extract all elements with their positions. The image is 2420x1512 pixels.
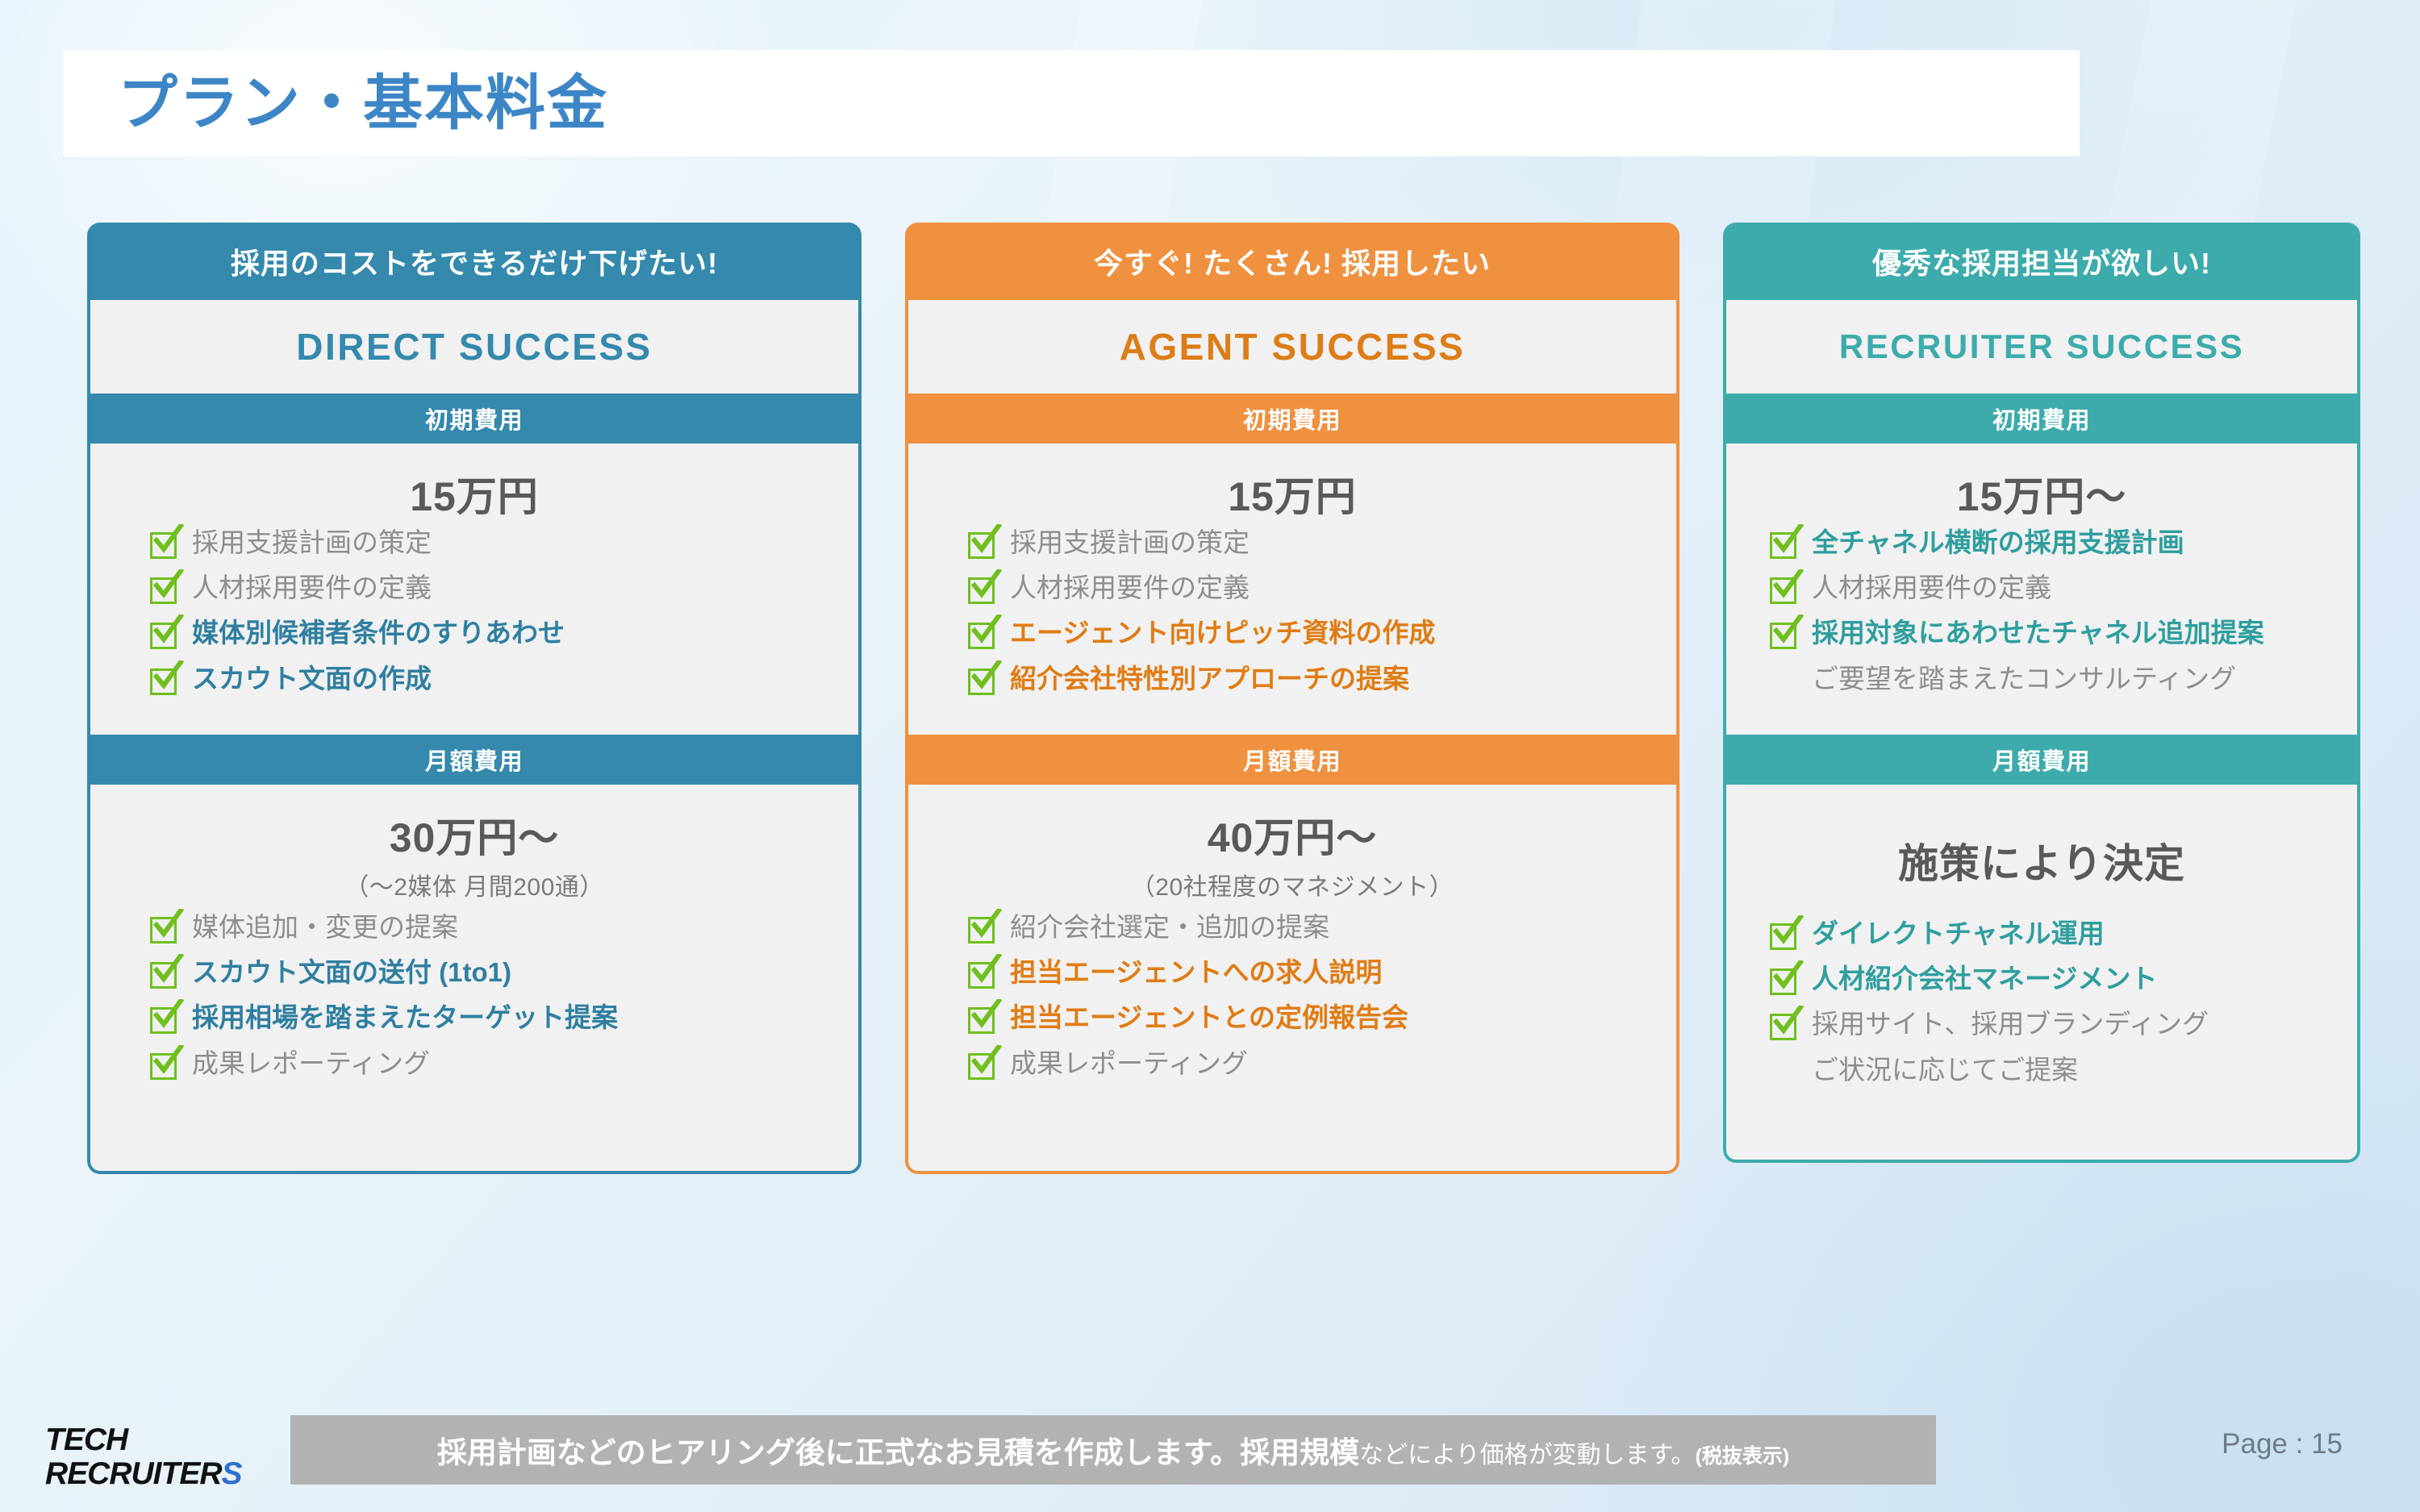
company-logo: TECH RECRUITERS	[45, 1423, 295, 1491]
plan-card-recruiter-success[interactable]: 優秀な採用担当が欲しい! RECRUITER SUCCESS 初期費用 15万円…	[1723, 223, 2360, 1163]
monthly-fee-body: 施策により決定 ダイレクトチャネル運用 人材	[1723, 785, 2360, 1163]
feature-label: 全チャネル横断の採用支援計画	[1812, 526, 2184, 560]
feature-label: 人材紹介会社マネージメント	[1812, 962, 2157, 996]
footer-note-bar: 採用計画などのヒアリング後に正式なお見積を作成します。採用規模などにより価格が変…	[290, 1415, 1936, 1485]
initial-feature-list: 全チャネル横断の採用支援計画 人材採用要件の定義	[1726, 526, 2357, 696]
checkbox-icon	[148, 957, 181, 989]
list-item: 人材採用要件の定義	[1768, 571, 2357, 605]
initial-fee-band: 初期費用	[87, 394, 862, 444]
feature-label: 人材採用要件の定義	[1010, 571, 1250, 605]
feature-label: スカウト文面の作成	[192, 662, 432, 696]
list-item: 成果レポーティング	[966, 1047, 1676, 1081]
monthly-feature-list: 媒体追加・変更の提案 スカウト文面の送付 (1to1)	[90, 910, 858, 1081]
feature-label: 成果レポーティング	[192, 1047, 430, 1081]
checkbox-icon	[148, 527, 181, 560]
monthly-fee-price: 40万円〜	[908, 806, 1676, 864]
initial-fee-body: 15万円 採用支援計画の策定 人材採用要件の	[905, 444, 1679, 735]
footer-note-tax: (税抜表示)	[1696, 1445, 1790, 1468]
plan-tagline: 今すぐ! たくさん! 採用したい	[905, 223, 1679, 300]
feature-label: ご状況に応じてご提案	[1812, 1053, 2078, 1087]
list-item: 担当エージェントへの求人説明	[966, 956, 1676, 989]
feature-label: 人材採用要件の定義	[1812, 571, 2051, 605]
monthly-fee-body: 40万円〜 （20社程度のマネジメント） 紹介会社選定・追加の提案	[905, 785, 1679, 1174]
monthly-fee-price: 施策により決定	[1726, 831, 2357, 889]
feature-label: 紹介会社選定・追加の提案	[1010, 910, 1329, 944]
list-item-note: ご状況に応じてご提案	[1768, 1053, 2357, 1087]
feature-label: 担当エージェントへの求人説明	[1010, 956, 1382, 989]
plan-card-agent-success[interactable]: 今すぐ! たくさん! 採用したい AGENT SUCCESS 初期費用 15万円…	[905, 223, 1679, 1174]
checkbox-icon	[966, 618, 999, 650]
checkbox-icon	[966, 1002, 999, 1035]
checkbox-icon	[1768, 573, 1800, 605]
monthly-fee-band: 月額費用	[905, 735, 1679, 785]
checkbox-icon	[966, 957, 999, 989]
checkbox-icon	[966, 912, 999, 944]
feature-label: 紹介会社特性別アプローチの提案	[1010, 662, 1409, 696]
plan-tagline: 採用のコストをできるだけ下げたい!	[87, 223, 862, 300]
feature-label: 採用対象にあわせたチャネル追加提案	[1812, 616, 2264, 650]
logo-line-1: TECH	[45, 1423, 295, 1457]
feature-label: 採用支援計画の策定	[1010, 526, 1250, 560]
slide-title-bar: プラン・基本料金	[63, 50, 2080, 156]
initial-fee-price: 15万円〜	[1726, 464, 2357, 523]
monthly-fee-band: 月額費用	[1723, 735, 2360, 785]
monthly-feature-list: ダイレクトチャネル運用 人材紹介会社マネージメント	[1726, 917, 2357, 1087]
checkbox-icon	[148, 618, 181, 650]
footer-note-thin: などにより価格が変動します。	[1359, 1442, 1695, 1468]
plan-name: DIRECT SUCCESS	[296, 325, 652, 369]
list-item: スカウト文面の送付 (1to1)	[148, 956, 858, 989]
footer-note: 採用計画などのヒアリング後に正式なお見積を作成します。採用規模などにより価格が変…	[437, 1428, 1789, 1472]
plan-card-group: 採用のコストをできるだけ下げたい! DIRECT SUCCESS 初期費用 15…	[0, 223, 2420, 1400]
list-item: 採用支援計画の策定	[966, 526, 1676, 560]
list-item: 担当エージェントとの定例報告会	[966, 1001, 1676, 1035]
feature-label: ご要望を踏まえたコンサルティング	[1812, 662, 2236, 696]
list-item: スカウト文面の作成	[148, 662, 858, 696]
monthly-fee-body: 30万円〜 （〜2媒体 月間200通） 媒体追加・変更の提案	[87, 785, 862, 1174]
page-number: Page : 15	[2222, 1428, 2343, 1460]
feature-label: 人材採用要件の定義	[192, 571, 432, 605]
feature-label: 採用サイト、採用ブランディング	[1812, 1007, 2209, 1041]
initial-fee-body: 15万円 採用支援計画の策定 人材採用要件の	[87, 444, 862, 735]
checkbox-icon	[1768, 964, 1800, 996]
feature-label: エージェント向けピッチ資料の作成	[1010, 616, 1435, 650]
list-item: 紹介会社特性別アプローチの提案	[966, 662, 1676, 696]
monthly-fee-band: 月額費用	[87, 735, 862, 785]
monthly-fee-subnote: （〜2媒体 月間200通）	[90, 867, 858, 902]
initial-fee-band: 初期費用	[1723, 394, 2360, 444]
list-item: 採用対象にあわせたチャネル追加提案	[1768, 616, 2357, 650]
checkbox-icon	[1768, 1009, 1800, 1041]
logo-line-2-main: RECRUITER	[45, 1456, 222, 1491]
plan-name-box: AGENT SUCCESS	[905, 300, 1679, 394]
feature-label: 担当エージェントとの定例報告会	[1010, 1001, 1408, 1035]
list-item: 成果レポーティング	[148, 1047, 858, 1081]
list-item: 人材採用要件の定義	[148, 571, 858, 605]
initial-fee-price: 15万円	[908, 464, 1676, 523]
logo-line-2-accent: S	[222, 1456, 242, 1491]
list-item: 媒体別候補者条件のすりあわせ	[148, 616, 858, 650]
slide-footer: TECH RECRUITERS 採用計画などのヒアリング後に正式なお見積を作成し…	[0, 1406, 2420, 1512]
initial-fee-body: 15万円〜 全チャネル横断の採用支援計画 人	[1723, 444, 2360, 735]
checkbox-icon	[966, 573, 999, 605]
plan-tagline: 優秀な採用担当が欲しい!	[1723, 223, 2360, 300]
list-item: ダイレクトチャネル運用	[1768, 917, 2357, 951]
feature-label: 採用支援計画の策定	[192, 526, 432, 560]
feature-label: 媒体別候補者条件のすりあわせ	[192, 616, 565, 650]
page-title: プラン・基本料金	[118, 73, 608, 133]
checkbox-icon	[966, 1048, 999, 1081]
checkbox-icon	[966, 664, 999, 696]
list-item: 紹介会社選定・追加の提案	[966, 910, 1676, 944]
list-item: 媒体追加・変更の提案	[148, 910, 858, 944]
plan-name: AGENT SUCCESS	[1120, 325, 1466, 369]
feature-label: スカウト文面の送付 (1to1)	[192, 956, 511, 989]
list-item: 全チャネル横断の採用支援計画	[1768, 526, 2357, 560]
checkbox-icon	[148, 1048, 181, 1081]
list-item: エージェント向けピッチ資料の作成	[966, 616, 1676, 650]
checkbox-icon	[1768, 918, 1800, 951]
footer-note-main: 採用計画などのヒアリング後に正式なお見積を作成します。採用規模	[437, 1436, 1359, 1469]
feature-label: 採用相場を踏まえたターゲット提案	[192, 1001, 618, 1035]
plan-name-box: RECRUITER SUCCESS	[1723, 300, 2360, 394]
initial-feature-list: 採用支援計画の策定 人材採用要件の定義	[908, 526, 1676, 696]
list-item: 人材紹介会社マネージメント	[1768, 962, 2357, 996]
checkbox-icon	[148, 1002, 181, 1035]
checkbox-icon	[148, 912, 181, 944]
plan-name: RECRUITER SUCCESS	[1839, 327, 2244, 366]
feature-label: 成果レポーティング	[1010, 1047, 1248, 1081]
initial-feature-list: 採用支援計画の策定 人材採用要件の定義	[90, 526, 858, 696]
checkbox-icon	[1768, 618, 1800, 650]
monthly-fee-subnote: （20社程度のマネジメント）	[908, 867, 1676, 902]
checkbox-icon	[966, 527, 999, 560]
checkbox-icon	[1768, 527, 1800, 560]
logo-line-2: RECRUITERS	[45, 1457, 295, 1491]
feature-label: 媒体追加・変更の提案	[192, 910, 458, 944]
plan-card-direct-success[interactable]: 採用のコストをできるだけ下げたい! DIRECT SUCCESS 初期費用 15…	[87, 223, 862, 1174]
slide-canvas: プラン・基本料金 採用のコストをできるだけ下げたい! DIRECT SUCCES…	[0, 0, 2420, 1512]
initial-fee-price: 15万円	[90, 464, 858, 523]
plan-name-box: DIRECT SUCCESS	[87, 300, 862, 394]
list-item-note: ご要望を踏まえたコンサルティング	[1768, 662, 2357, 696]
initial-fee-band: 初期費用	[905, 394, 1679, 444]
monthly-feature-list: 紹介会社選定・追加の提案 担当エージェントへの求人説明	[908, 910, 1676, 1081]
checkbox-icon	[148, 664, 181, 696]
list-item: 採用支援計画の策定	[148, 526, 858, 560]
list-item: 採用相場を踏まえたターゲット提案	[148, 1001, 858, 1035]
monthly-fee-price: 30万円〜	[90, 806, 858, 864]
checkbox-icon	[148, 573, 181, 605]
feature-label: ダイレクトチャネル運用	[1812, 917, 2105, 951]
list-item: 人材採用要件の定義	[966, 571, 1676, 605]
list-item: 採用サイト、採用ブランディング	[1768, 1007, 2357, 1041]
